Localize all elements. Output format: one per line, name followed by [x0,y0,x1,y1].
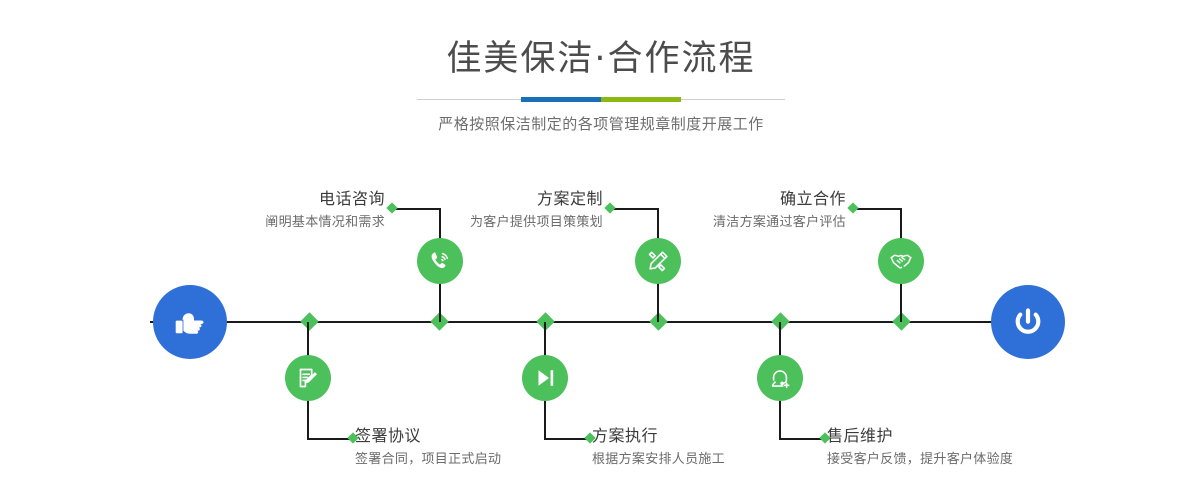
step-node-6[interactable] [878,238,924,284]
handshake-icon [888,248,914,274]
timeline-start-node[interactable] [153,285,227,359]
step-label-2: 签署协议 签署合同，项目正式启动 [355,425,615,470]
play-execute-icon [532,365,558,391]
step-node-3[interactable] [635,238,681,284]
step-desc: 根据方案安排人员施工 [592,447,852,470]
step-node-1[interactable] [417,238,463,284]
step-desc: 接受客户反馈，提升客户体验度 [827,447,1087,470]
step-node-5[interactable] [757,355,803,401]
step-title: 确立合作 [586,188,846,210]
customer-support-icon [767,365,793,391]
process-flow-infographic: 佳美保洁·合作流程 严格按照保洁制定的各项管理规章制度开展工作 [0,0,1202,502]
step-title: 方案定制 [343,188,603,210]
step-desc: 签署合同，项目正式启动 [355,447,615,470]
timeline-end-node[interactable] [991,285,1065,359]
connector-elbow [855,208,901,210]
step-desc: 为客户提供项目策策划 [343,210,603,233]
connector-elbow [779,438,825,440]
step-title: 方案执行 [592,425,852,447]
power-button-icon [1008,302,1048,342]
step-desc: 清洁方案通过客户评估 [586,210,846,233]
pointing-hand-icon [170,302,210,342]
document-sign-icon [295,365,321,391]
step-label-4: 方案执行 根据方案安排人员施工 [592,425,852,470]
timeline-axis [150,321,1052,323]
step-label-3: 方案定制 为客户提供项目策策划 [343,188,603,233]
step-node-2[interactable] [285,355,331,401]
step-label-5: 售后维护 接受客户反馈，提升客户体验度 [827,425,1087,470]
step-label-6: 确立合作 清洁方案通过客户评估 [586,188,846,233]
step-node-4[interactable] [522,355,568,401]
step-title: 签署协议 [355,425,615,447]
axis-marker [300,312,318,330]
pencil-ruler-icon [645,248,671,274]
step-title: 售后维护 [827,425,1087,447]
phone-call-icon [427,248,453,274]
label-marker [847,202,858,213]
timeline: 电话咨询 阐明基本情况和需求 签署协议 签署合同，项目正式启动 [0,0,1202,502]
connector-elbow [307,438,353,440]
connector-elbow [544,438,590,440]
